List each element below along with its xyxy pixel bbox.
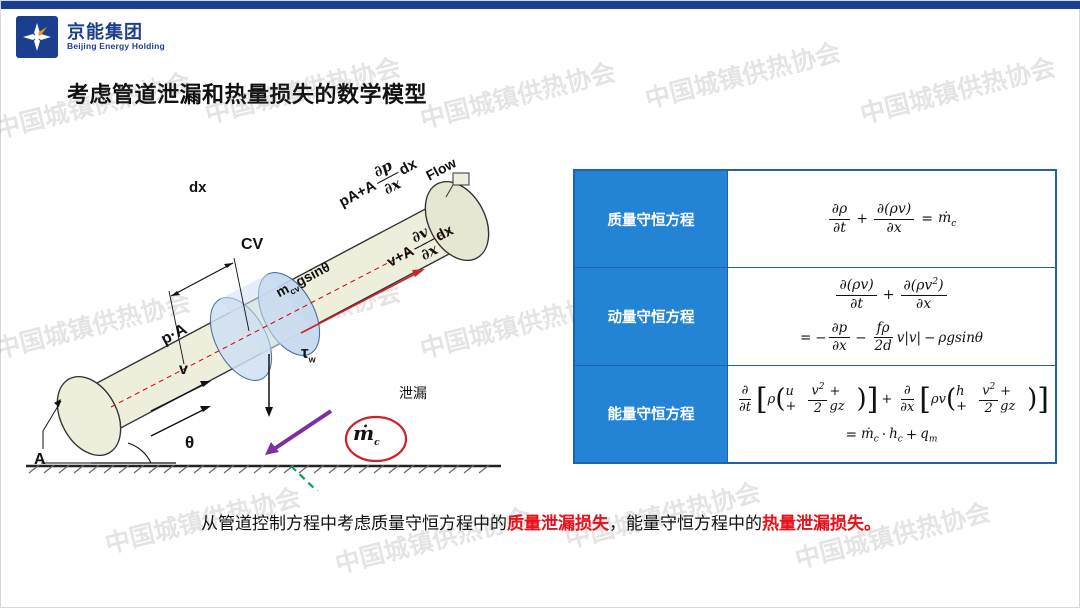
label-theta: θ <box>185 433 194 453</box>
caption-part2: ，能量守恒方程中的 <box>609 514 762 533</box>
caption-highlight-2: 热量泄漏损失。 <box>762 514 881 533</box>
brand-name-en: Beijing Energy Holding <box>67 42 165 51</box>
brand-logo: 京能集团 Beijing Energy Holding <box>15 15 165 59</box>
row-label-energy: 能量守恒方程 <box>575 366 728 462</box>
row-equation-energy: ∂∂t [ ρ ( u + v22 + gz ) ] + ∂∂x [ ρv ( … <box>728 366 1055 462</box>
brand-text: 京能集团 Beijing Energy Holding <box>67 23 165 51</box>
label-pressure-out-text: pA+A <box>336 177 379 211</box>
table-row: 能量守恒方程 ∂∂t [ ρ ( u + v22 + gz ) ] + ∂∂x … <box>575 366 1055 462</box>
label-leak-sub: c <box>374 438 379 448</box>
slide-root: 京能集团 Beijing Energy Holding 考虑管道泄漏和热量损失的… <box>0 0 1080 608</box>
caption-highlight-1: 质量泄漏损失 <box>507 514 609 533</box>
row-label-mass: 质量守恒方程 <box>575 171 728 267</box>
label-tau-sub: w <box>309 354 316 364</box>
label-v: v <box>179 361 188 379</box>
watermark: 中国城镇供热协会 <box>856 48 1059 131</box>
table-row: 质量守恒方程 ∂ρ∂t + ∂(ρv)∂x = ṁc <box>575 171 1055 268</box>
row-equation-mass: ∂ρ∂t + ∂(ρv)∂x = ṁc <box>728 171 1055 267</box>
bottom-caption: 从管道控制方程中考虑质量守恒方程中的质量泄漏损失，能量守恒方程中的热量泄漏损失。 <box>1 509 1080 534</box>
label-area-A: A <box>34 451 46 469</box>
label-leak-text: 泄漏 <box>399 383 427 403</box>
label-tau: τ <box>301 343 309 362</box>
watermark: 中国城镇供热协会 <box>641 33 844 116</box>
row-equation-momentum: ∂(ρv)∂t + ∂(ρv2)∂x = − ∂p∂x − fρ2d v|v| … <box>728 268 1055 364</box>
page-title: 考虑管道泄漏和热量损失的数学模型 <box>67 77 427 109</box>
top-accent-bar <box>1 1 1080 9</box>
watermark: 中国城镇供热协会 <box>791 493 994 576</box>
pipe-diagram: dx CV Flow pA+A ∂p ∂x dx v+A ∂v ∂x dx mc… <box>1 111 561 491</box>
equations-table: 质量守恒方程 ∂ρ∂t + ∂(ρv)∂x = ṁc 动量守恒方程 ∂(ρv)∂… <box>573 169 1057 464</box>
label-velocity-out-text: v+A <box>384 242 417 270</box>
brand-name-cn: 京能集团 <box>67 23 165 42</box>
label-leak-symbol: ṁc <box>353 421 380 448</box>
caption-part1: 从管道控制方程中考虑质量守恒方程中的 <box>201 514 507 533</box>
row-label-momentum: 动量守恒方程 <box>575 268 728 364</box>
logo-mark-icon <box>15 15 59 59</box>
label-dx: dx <box>189 179 207 196</box>
label-leak-m: ṁ <box>353 421 374 445</box>
table-row: 动量守恒方程 ∂(ρv)∂t + ∂(ρv2)∂x = − ∂p∂x − fρ2… <box>575 268 1055 365</box>
label-cv: CV <box>241 236 263 254</box>
label-tau-w: τw <box>301 343 316 364</box>
